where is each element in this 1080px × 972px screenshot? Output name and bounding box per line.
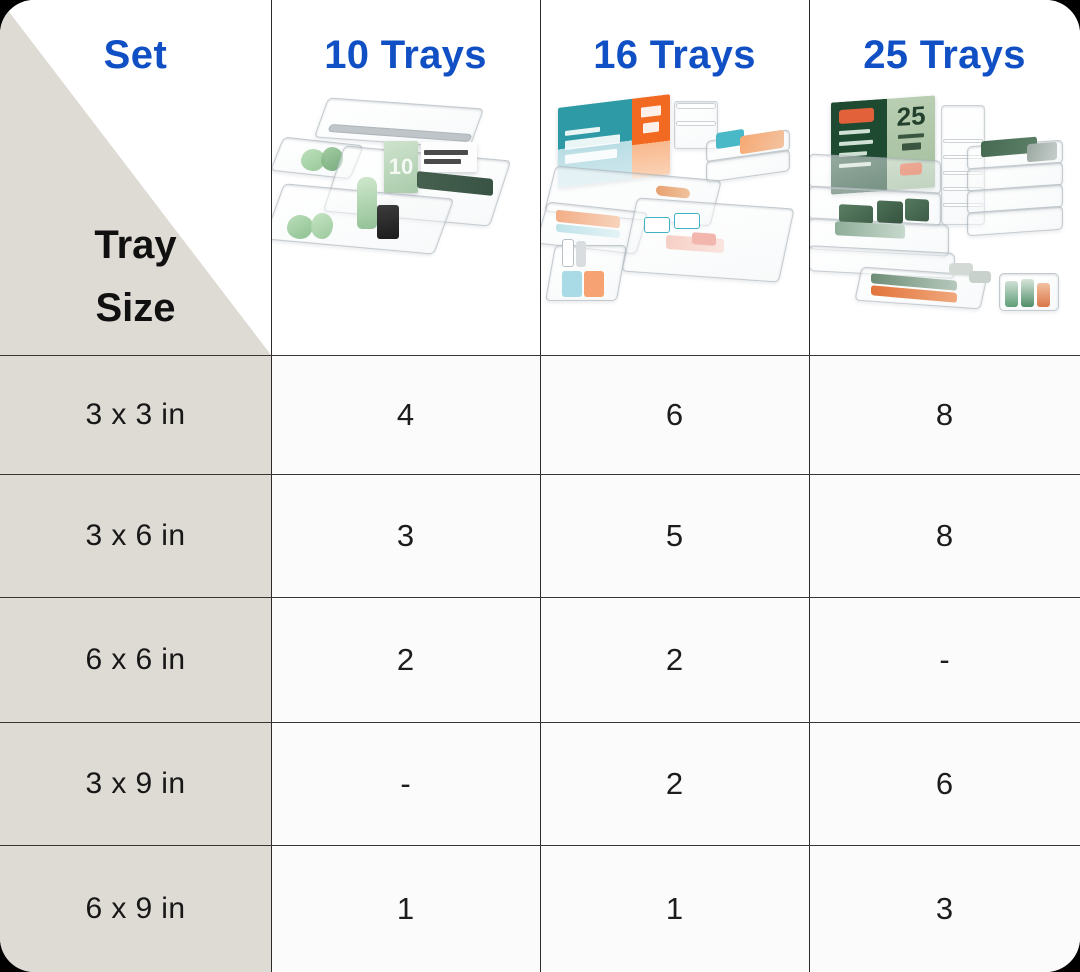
- table-corner-header: Set Tray Size: [0, 0, 271, 355]
- comparison-table-card: Set Tray Size 10 Trays: [0, 0, 1080, 972]
- cell-value: 3: [397, 518, 414, 554]
- cell-3x3-16-trays: 6: [540, 355, 809, 474]
- screenshot-root: Set Tray Size 10 Trays: [0, 0, 1080, 972]
- cell-6x6-10-trays: 2: [271, 597, 540, 722]
- product-photo-16-trays: [540, 95, 809, 349]
- cell-6x6-25-trays: -: [809, 597, 1080, 722]
- cell-6x9-16-trays: 1: [540, 845, 809, 972]
- row-label: 3 x 6 in: [86, 519, 186, 553]
- cell-3x3-10-trays: 4: [271, 355, 540, 474]
- row-header-6x9: 6 x 9 in: [0, 845, 271, 972]
- cell-value: -: [400, 766, 410, 802]
- cell-3x9-16-trays: 2: [540, 722, 809, 845]
- product-photo-25-trays: 25: [809, 95, 1080, 349]
- row-header-3x3: 3 x 3 in: [0, 355, 271, 474]
- cell-3x6-25-trays: 8: [809, 474, 1080, 597]
- cell-value: 6: [666, 397, 683, 433]
- row-label: 3 x 3 in: [86, 398, 186, 432]
- tray-size-line-1: Tray: [0, 214, 271, 277]
- tray-size-line-2: Size: [0, 277, 271, 340]
- cell-6x9-25-trays: 3: [809, 845, 1080, 972]
- cell-6x6-16-trays: 2: [540, 597, 809, 722]
- column-header-16-trays: 16 Trays: [540, 0, 809, 355]
- cell-value: 2: [397, 642, 414, 678]
- row-header-6x6: 6 x 6 in: [0, 597, 271, 722]
- column-header-25-trays: 25 Trays: [809, 0, 1080, 355]
- corner-set-label: Set: [0, 33, 271, 78]
- badge-10: 10: [389, 154, 413, 180]
- row-header-3x6: 3 x 6 in: [0, 474, 271, 597]
- row-label: 6 x 9 in: [86, 892, 186, 926]
- cell-3x9-25-trays: 6: [809, 722, 1080, 845]
- cell-value: 2: [666, 766, 683, 802]
- corner-tray-size-label: Tray Size: [0, 214, 271, 340]
- cell-value: -: [939, 642, 949, 678]
- badge-25: 25: [897, 102, 926, 130]
- column-header-10-trays: 10 Trays 10: [271, 0, 540, 355]
- comparison-table: Set Tray Size 10 Trays: [0, 0, 1080, 972]
- column-header-25-trays-label: 25 Trays: [809, 33, 1080, 78]
- row-label: 6 x 6 in: [86, 643, 186, 677]
- cell-value: 8: [936, 397, 953, 433]
- cell-3x6-16-trays: 5: [540, 474, 809, 597]
- row-header-3x9: 3 x 9 in: [0, 722, 271, 845]
- cell-value: 4: [397, 397, 414, 433]
- row-label: 3 x 9 in: [86, 767, 186, 801]
- cell-value: 1: [666, 891, 683, 927]
- cell-value: 3: [936, 891, 953, 927]
- cell-value: 6: [936, 766, 953, 802]
- cell-3x6-10-trays: 3: [271, 474, 540, 597]
- column-header-16-trays-label: 16 Trays: [540, 33, 809, 78]
- cell-value: 5: [666, 518, 683, 554]
- cell-3x3-25-trays: 8: [809, 355, 1080, 474]
- cell-6x9-10-trays: 1: [271, 845, 540, 972]
- column-header-10-trays-label: 10 Trays: [271, 33, 540, 78]
- cell-3x9-10-trays: -: [271, 722, 540, 845]
- cell-value: 2: [666, 642, 683, 678]
- cell-value: 8: [936, 518, 953, 554]
- product-photo-10-trays: 10: [271, 95, 540, 349]
- cell-value: 1: [397, 891, 414, 927]
